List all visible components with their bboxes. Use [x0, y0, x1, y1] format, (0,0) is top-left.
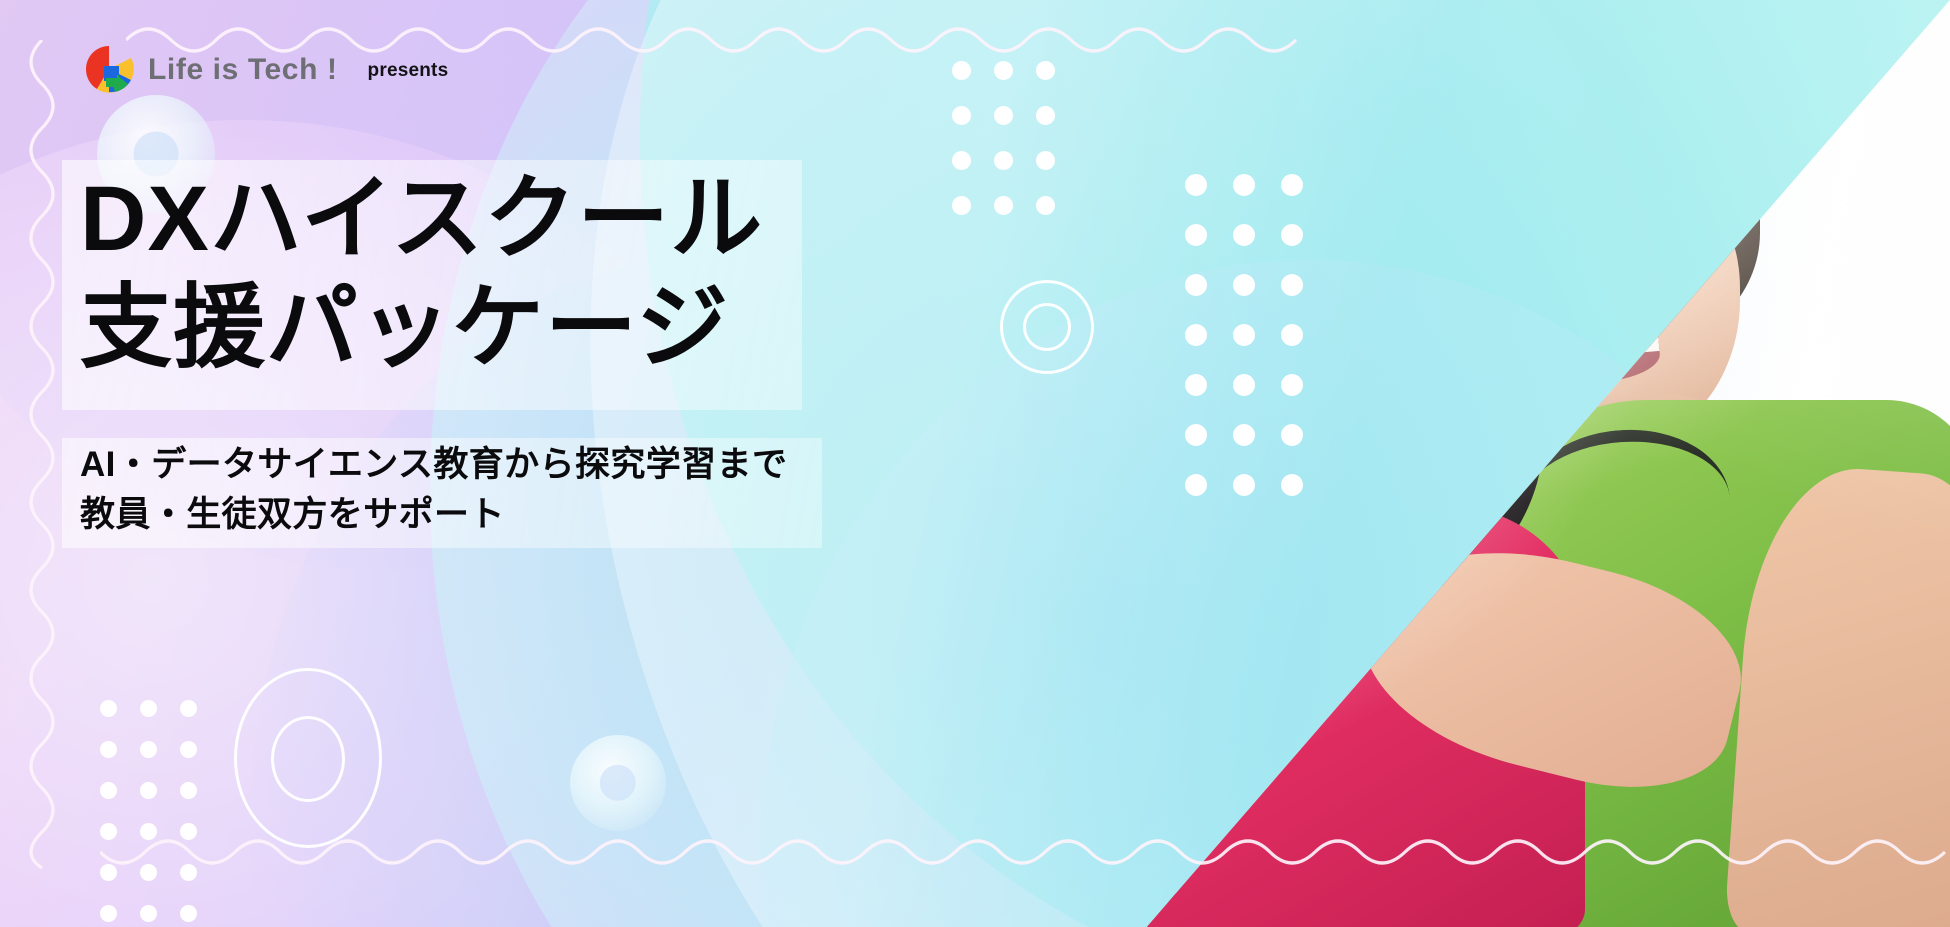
circle-outline-small-icon	[271, 716, 345, 802]
donut-shape-icon	[570, 735, 666, 831]
dot-grid-top-icon	[952, 48, 1078, 228]
presents-label: presents	[368, 61, 449, 80]
brand-lockup: Life is Tech ! presents	[84, 44, 448, 96]
page-subtitle-line-1: AI・データサイエンス教育から探究学習まで	[80, 440, 860, 490]
life-is-tech-pinwheel-icon	[84, 44, 134, 96]
page-subtitle: AI・データサイエンス教育から探究学習まで 教員・生徒双方をサポート	[80, 440, 860, 539]
circle-outline-small-icon	[1023, 303, 1071, 351]
brand-wordmark: Life is Tech !	[148, 55, 338, 85]
page-subtitle-line-2: 教員・生徒双方をサポート	[80, 490, 860, 540]
dot-grid-bottom-icon	[100, 688, 220, 927]
page-title-line-1: DXハイスクール	[80, 165, 840, 274]
hero-banner: Life is Tech ! presents DXハイスクール 支援パッケージ…	[0, 0, 1950, 927]
wavy-line-bottom-icon	[100, 830, 1950, 872]
page-title: DXハイスクール 支援パッケージ	[80, 165, 840, 382]
wavy-line-left-icon	[18, 40, 66, 870]
page-title-line-2: 支援パッケージ	[80, 274, 840, 383]
dot-grid-right-icon	[1185, 160, 1329, 510]
